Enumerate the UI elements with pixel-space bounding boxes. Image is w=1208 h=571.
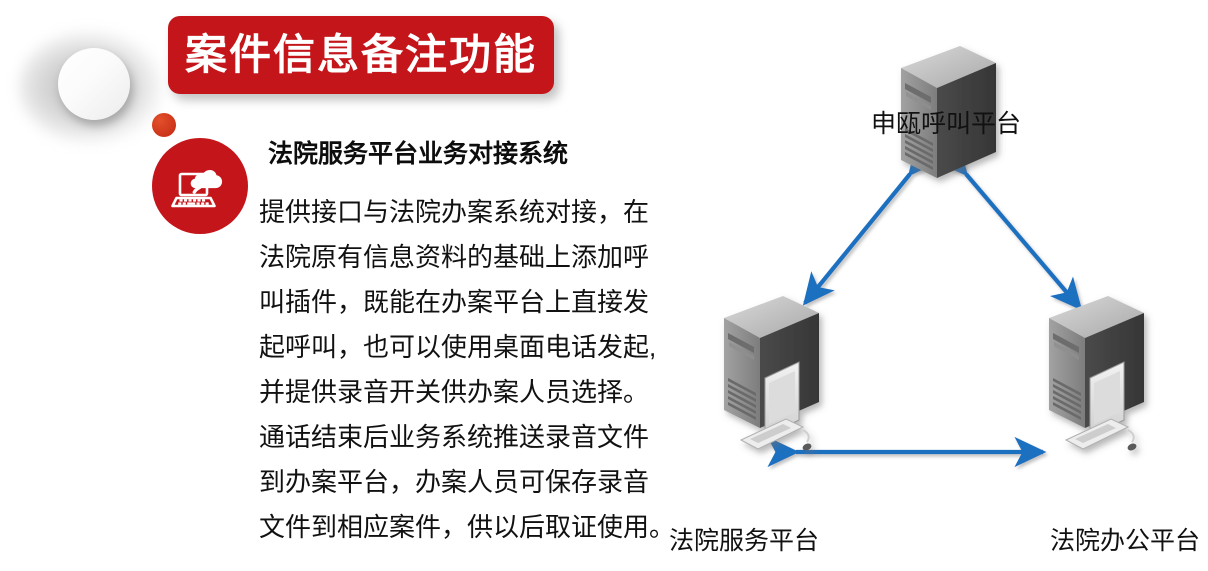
connection-top-to-right (966, 174, 1080, 308)
laptop-cloud-icon (169, 160, 231, 212)
page-title: 案件信息备注功能 (185, 34, 537, 76)
body-line: 并提供录音开关供办案人员选择。 (259, 370, 657, 415)
body-line: 通话结束后业务系统推送录音文件 (259, 415, 657, 460)
connection-top-to-left (805, 174, 910, 303)
body-line: 叫插件，既能在办案平台上直接发 (259, 280, 657, 325)
server-tower-workstation-icon-left (724, 296, 819, 452)
node-label-top: 申瓯呼叫平台 (871, 112, 1021, 137)
section-heading: 法院服务平台业务对接系统 (268, 139, 568, 169)
section-body-text: 提供接口与法院办案系统对接，在 法院原有信息资料的基础上添加呼 叫插件，既能在办… (259, 190, 657, 550)
network-diagram: bottom-left --> bottom-right --> bottom-… (600, 0, 1208, 571)
body-line: 起呼叫，也可以使用桌面电话发起, (259, 325, 657, 370)
decorative-white-circle (58, 48, 130, 120)
decorative-red-dot (152, 113, 176, 137)
body-line: 文件到相应案件，供以后取证使用。 (259, 505, 657, 550)
laptop-cloud-icon-badge (152, 138, 248, 234)
server-tower-workstation-icon-right (1049, 296, 1144, 452)
node-label-right: 法院办公平台 (1050, 529, 1200, 554)
node-label-left: 法院服务平台 (669, 529, 819, 554)
title-banner: 案件信息备注功能 (168, 16, 554, 94)
body-line: 到办案平台，办案人员可保存录音 (259, 460, 657, 505)
body-line: 提供接口与法院办案系统对接，在 (259, 190, 657, 235)
body-line: 法院原有信息资料的基础上添加呼 (259, 235, 657, 280)
